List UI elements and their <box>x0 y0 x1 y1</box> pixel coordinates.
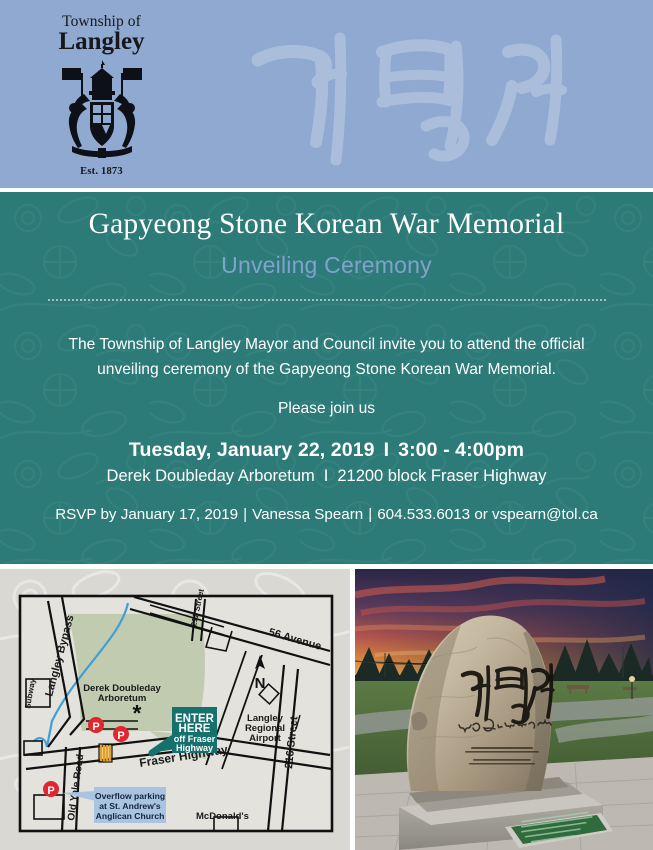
rsvp-line: RSVP by January 17, 2019|Vanessa Spearn|… <box>0 506 653 523</box>
invitation-panel: Gapyeong Stone Korean War Memorial Unvei… <box>0 192 653 564</box>
page-subtitle: Unveiling Ceremony <box>0 252 653 279</box>
rsvp-separator-1: | <box>238 506 252 523</box>
parking-marker: P <box>43 781 59 797</box>
overflow-line3: Anglican Church <box>96 811 165 821</box>
event-datetime: Tuesday, January 22, 2019I3:00 - 4:00pm <box>0 439 653 462</box>
coat-of-arms-icon <box>56 58 148 163</box>
rsvp-contact-name: Vanessa Spearn <box>252 506 363 523</box>
hangul-watermark-icon <box>250 30 580 170</box>
overflow-line2: at St. Andrew's <box>99 801 161 811</box>
compass-label: N <box>255 675 266 692</box>
map-label-mcdonalds: McDonald's <box>196 811 249 822</box>
page-header: Township of Langley <box>0 0 653 188</box>
logo-line-langley: Langley <box>44 29 159 54</box>
map-graphic[interactable]: * N 56 Avenue 212 Street 216 Street Fras… <box>0 569 350 850</box>
join-us-text: Please join us <box>0 400 653 418</box>
event-time: 3:00 - 4:00pm <box>398 439 524 461</box>
svg-text:Airport: Airport <box>249 733 282 744</box>
rsvp-deadline: RSVP by January 17, 2019 <box>55 506 238 523</box>
dotted-divider <box>47 299 607 301</box>
location-map[interactable]: * N 56 Avenue 212 Street 216 Street Fras… <box>0 569 350 850</box>
footer-panels: * N 56 Avenue 212 Street 216 Street Fras… <box>0 569 653 850</box>
page-title: Gapyeong Stone Korean War Memorial <box>0 208 653 241</box>
svg-text:P: P <box>117 730 124 742</box>
enter-here-line4: Highway <box>176 743 213 753</box>
parking-marker: P <box>113 726 129 742</box>
svg-text:P: P <box>92 721 99 733</box>
township-logo: Township of Langley <box>44 14 159 177</box>
datetime-separator: I <box>375 439 399 461</box>
map-label-langley-regional-airport: Langley Regional Airport <box>245 713 285 744</box>
logo-established-year: Est. 1873 <box>44 166 159 177</box>
venue-separator: I <box>315 467 338 485</box>
rsvp-separator-2: | <box>363 506 377 523</box>
invitation-body-text: The Township of Langley Mayor and Counci… <box>42 332 611 383</box>
svg-text:Arboretum: Arboretum <box>98 693 147 704</box>
parking-marker: P <box>88 717 104 733</box>
memorial-stone-photo <box>355 569 653 850</box>
event-date: Tuesday, January 22, 2019 <box>129 439 375 461</box>
overflow-line1: Overflow parking <box>95 791 165 801</box>
memorial-photo-graphic <box>355 569 653 850</box>
event-location: Derek Doubleday ArboretumI21200 block Fr… <box>0 467 653 486</box>
event-venue: Derek Doubleday Arboretum <box>107 467 315 485</box>
rsvp-phone-email[interactable]: 604.533.6013 or vspearn@tol.ca <box>377 506 598 523</box>
svg-text:P: P <box>47 785 54 797</box>
event-address: 21200 block Fraser Highway <box>337 467 546 485</box>
